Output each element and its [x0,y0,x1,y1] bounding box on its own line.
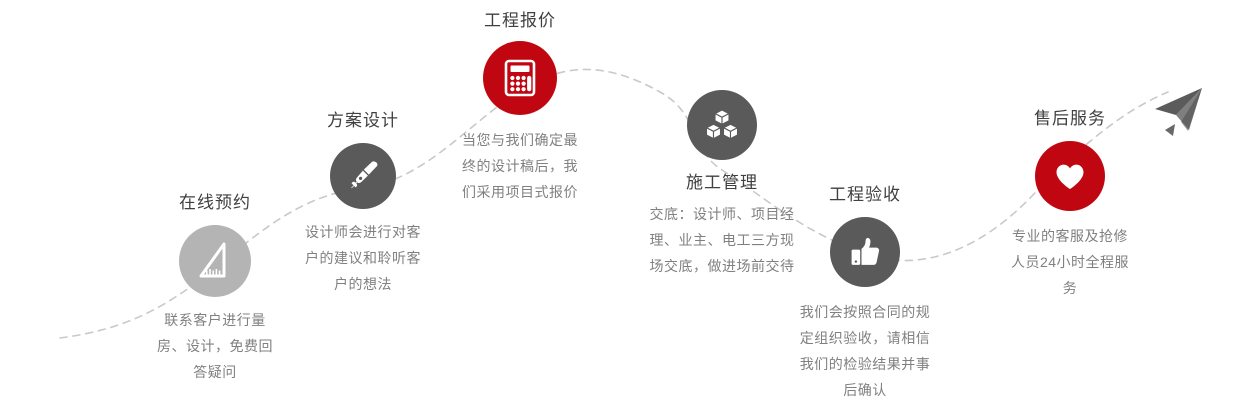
desc-line: 定组织验收，请相信 [757,325,973,351]
step-description: 联系客户进行量 房、设计，免费回 答疑问 [110,307,320,385]
desc-line: 务 [963,275,1177,301]
step-description: 专业的客服及抢修 人员24小时全程服 务 [963,223,1177,301]
desc-line: 终的设计稿后，我 [415,153,625,179]
desc-line: 户的想法 [258,271,468,297]
thumbs-up-icon [844,231,886,273]
desc-line: 人员24小时全程服 [963,249,1177,275]
step-icon-circle[interactable] [483,41,557,115]
desc-line: 设计师会进行对客 [258,219,468,245]
desc-line: 我们会按照合同的规 [757,299,973,325]
triangle-ruler-icon [193,239,237,283]
desc-line: 们采用项目式报价 [415,179,625,205]
desc-line: 后确认 [757,377,973,403]
step-description: 我们会按照合同的规 定组织验收，请相信 我们的检验结果并事 后确认 [757,299,973,403]
heart-icon [1049,155,1091,197]
step-icon-circle[interactable] [179,225,251,297]
step-6[interactable]: 售后服务 专业的客服及抢修 人员24小时全程服 务 [963,110,1177,301]
step-icon-circle[interactable] [330,143,396,209]
desc-line: 联系客户进行量 [110,307,320,333]
desc-line: 专业的客服及抢修 [963,223,1177,249]
process-flow-infographic: 在线预约 联系客户进行量 房、设计，免费回 答疑问 方案设计 [0,0,1245,402]
desc-line: 户的建议和聆听客 [258,245,468,271]
desc-line: 答疑问 [110,359,320,385]
step-icon-circle[interactable] [1035,141,1105,211]
step-3[interactable]: 工程报价 当您与我们确定最 终的设计稿后，我 们采用项目式报价 [415,12,625,205]
step-icon-circle[interactable] [830,217,900,287]
step-icon-circle[interactable] [687,90,757,160]
step-title: 工程报价 [415,12,625,29]
step-title: 工程验收 [757,186,973,203]
step-title: 售后服务 [963,110,1177,127]
desc-line: 当您与我们确定最 [415,127,625,153]
step-description: 设计师会进行对客 户的建议和聆听客 户的想法 [258,219,468,297]
calculator-icon [499,57,541,99]
step-description: 当您与我们确定最 终的设计稿后，我 们采用项目式报价 [415,127,625,205]
desc-line: 房、设计，免费回 [110,333,320,359]
stacked-boxes-icon [701,104,743,146]
step-5[interactable]: 工程验收 我们会按照合同的规 定组织验收，请相信 我们的检验结果并事 后确认 [757,186,973,403]
desc-line: 我们的检验结果并事 [757,351,973,377]
fountain-pen-nib-icon [343,156,383,196]
